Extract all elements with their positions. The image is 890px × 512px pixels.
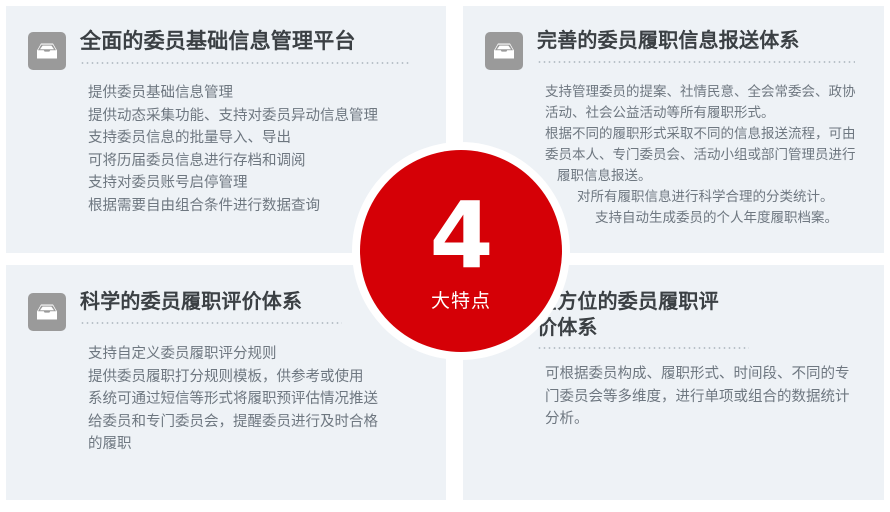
body-line: 系统可通过短信等形式将履职预评估情况推送 bbox=[88, 388, 426, 411]
badge-caption: 大特点 bbox=[431, 292, 491, 311]
panel-body: 支持自定义委员履职评分规则 提供委员履职打分规则模板，供参考或使用 系统可通过短… bbox=[6, 331, 446, 456]
panel-header-text: 全方位的委员履职评 价体系 bbox=[537, 289, 884, 349]
inbox-tray-icon bbox=[28, 293, 66, 331]
inbox-tray-icon bbox=[28, 32, 66, 70]
feature-grid-infographic: 全面的委员基础信息管理平台 提供委员基础信息管理 提供动态采集功能、支持对委员异… bbox=[0, 0, 890, 512]
body-line: 履职信息报送。 bbox=[545, 166, 866, 187]
body-line: 给委员和专门委员会，提醒委员进行及时合格 bbox=[88, 411, 426, 434]
body-line: 提供委员基础信息管理 bbox=[88, 82, 446, 105]
panel-title: 全方位的委员履职评 价体系 bbox=[537, 289, 884, 340]
body-line: 支持管理委员的提案、社情民意、全会常委会、政协活动、社会公益活动等所有履职形式。 bbox=[545, 82, 866, 124]
panel-header: 完善的委员履职信息报送体系 bbox=[463, 6, 884, 70]
title-divider bbox=[537, 61, 855, 63]
panel-title: 完善的委员履职信息报送体系 bbox=[537, 28, 884, 54]
body-line: 支持委员信息的批量导入、导出 bbox=[88, 127, 446, 150]
center-badge: 4 大特点 bbox=[352, 142, 570, 360]
body-line: 提供委员履职打分规则模板，供参考或使用 bbox=[88, 366, 426, 389]
badge-number: 4 bbox=[429, 195, 492, 278]
title-divider bbox=[80, 322, 342, 324]
title-divider bbox=[80, 62, 410, 64]
body-line: 对所有履职信息进行科学合理的分类统计。 bbox=[545, 187, 866, 208]
body-line: 支持自定义委员履职评分规则 bbox=[88, 343, 426, 366]
panel-body: 可根据委员构成、履职形式、时间段、不同的专门委员会等多维度，进行单项或组合的数据… bbox=[463, 349, 884, 431]
body-line: 提供动态采集功能、支持对委员异动信息管理 bbox=[88, 105, 446, 128]
body-line: 可根据委员构成、履职形式、时间段、不同的专门委员会等多维度，进行单项或组合的数据… bbox=[545, 363, 860, 431]
body-line: 根据不同的履职形式采取不同的信息报送流程，可由委员本人、专门委员会、活动小组或部… bbox=[545, 124, 866, 166]
panel-header-text: 全面的委员基础信息管理平台 bbox=[80, 28, 446, 64]
title-divider bbox=[537, 347, 749, 349]
panel-title: 全面的委员基础信息管理平台 bbox=[80, 28, 446, 55]
panel-header: 全面的委员基础信息管理平台 bbox=[6, 6, 446, 70]
center-badge-disc: 4 大特点 bbox=[360, 150, 562, 352]
body-line: 支持自动生成委员的个人年度履职档案。 bbox=[545, 208, 866, 229]
panel-header-text: 完善的委员履职信息报送体系 bbox=[537, 28, 884, 63]
inbox-tray-icon bbox=[485, 32, 523, 70]
body-line: 的履职 bbox=[88, 433, 426, 456]
